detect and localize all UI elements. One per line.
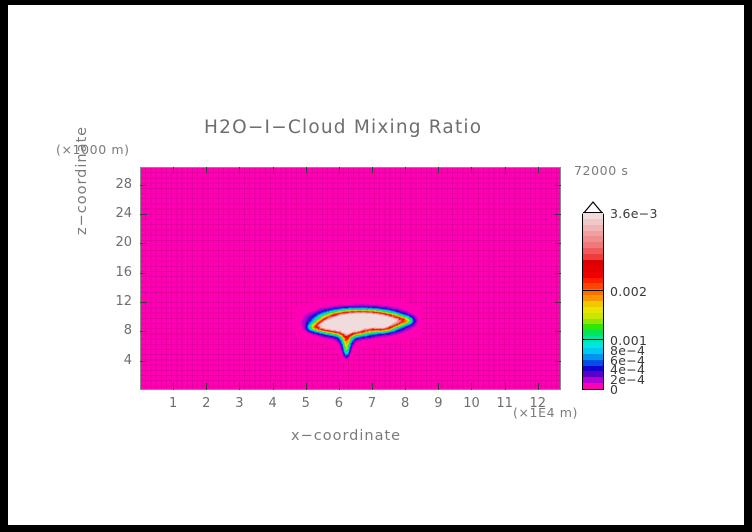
colorbar-rule	[583, 212, 603, 213]
y-tick-label: 8	[98, 323, 132, 338]
x-tick-label: 5	[291, 396, 321, 411]
x-tick	[173, 383, 174, 390]
colorbar-tick-label: 0	[610, 382, 618, 397]
x-tick-label: 1	[158, 396, 188, 411]
y-axis-title: z−coordinate	[74, 126, 90, 235]
x-tick-top	[538, 167, 539, 173]
x-tick-top	[438, 167, 439, 173]
y-axis-unit-label: (×1000 m)	[56, 142, 130, 157]
colorbar-segment	[583, 236, 603, 242]
page-title: H2O−I−Cloud Mixing Ratio	[204, 117, 482, 138]
colorbar-segment	[583, 330, 603, 336]
x-tick-label: 3	[224, 396, 254, 411]
x-tick-label: 7	[357, 396, 387, 411]
colorbar-segment	[583, 383, 603, 389]
colorbar-segment	[583, 212, 603, 218]
colorbar-segment	[583, 218, 603, 224]
colorbar-segment	[583, 377, 603, 383]
x-tick	[372, 383, 373, 390]
y-tick	[140, 185, 147, 186]
x-tick-label: 8	[390, 396, 420, 411]
y-tick-right	[555, 214, 561, 215]
x-tick-label: 12	[523, 396, 553, 411]
colorbar-segment	[583, 271, 603, 277]
x-tick-top	[239, 167, 240, 173]
y-tick	[140, 361, 147, 362]
heatmap-field	[140, 167, 561, 390]
colorbar-rule	[583, 290, 603, 291]
y-tick-label: 28	[98, 177, 132, 192]
image-outer-border: H2O−I−Cloud Mixing Ratio 72000 s (×1000 …	[0, 0, 752, 532]
y-tick-right	[555, 331, 561, 332]
y-tick	[140, 302, 147, 303]
x-tick-label: 10	[456, 396, 486, 411]
time-annotation: 72000 s	[574, 163, 628, 178]
colorbar-segment	[583, 306, 603, 312]
colorbar-segment	[583, 283, 603, 289]
y-tick-right	[555, 273, 561, 274]
colorbar-segment	[583, 253, 603, 259]
x-axis-title: x−coordinate	[291, 428, 401, 444]
colorbar-segment	[583, 295, 603, 301]
x-tick	[538, 383, 539, 390]
x-tick-top	[372, 167, 373, 173]
colorbar-segment	[583, 224, 603, 230]
x-tick	[438, 383, 439, 390]
x-tick	[306, 383, 307, 390]
x-tick-label: 11	[490, 396, 520, 411]
x-tick-top	[206, 167, 207, 173]
x-tick-label: 9	[423, 396, 453, 411]
x-tick	[273, 383, 274, 390]
y-tick	[140, 243, 147, 244]
colorbar-tick-label: 0.002	[610, 284, 647, 299]
x-tick	[206, 383, 207, 390]
colorbar-segment	[583, 359, 603, 365]
x-tick-top	[306, 167, 307, 173]
y-tick	[140, 273, 147, 274]
colorbar-segment	[583, 259, 603, 265]
x-tick-top	[405, 167, 406, 173]
x-tick-top	[173, 167, 174, 173]
colorbar-segment	[583, 277, 603, 283]
y-tick	[140, 331, 147, 332]
colorbar-segment	[583, 312, 603, 318]
colorbar-gradient	[582, 214, 604, 390]
colorbar-segment	[583, 365, 603, 371]
x-tick-top	[471, 167, 472, 173]
colorbar-segment	[583, 324, 603, 330]
colorbar-segment	[583, 300, 603, 306]
x-tick-label: 6	[324, 396, 354, 411]
x-tick	[405, 383, 406, 390]
y-tick-label: 24	[98, 206, 132, 221]
y-tick-right	[555, 185, 561, 186]
colorbar-segment	[583, 230, 603, 236]
colorbar-segment	[583, 371, 603, 377]
y-tick-label: 4	[98, 353, 132, 368]
y-tick-label: 20	[98, 235, 132, 250]
x-tick-label: 2	[191, 396, 221, 411]
y-tick-label: 12	[98, 294, 132, 309]
colorbar-segment	[583, 265, 603, 271]
colorbar-segment	[583, 318, 603, 324]
colorbar-segment	[583, 347, 603, 353]
cloud-cell-feature	[296, 295, 422, 359]
colorbar-rule	[583, 339, 603, 340]
colorbar-segment	[583, 353, 603, 359]
x-tick	[505, 383, 506, 390]
x-tick-top	[273, 167, 274, 173]
plot-canvas: H2O−I−Cloud Mixing Ratio 72000 s (×1000 …	[8, 5, 744, 525]
x-tick	[339, 383, 340, 390]
colorbar-segment	[583, 341, 603, 347]
x-tick-label: 4	[258, 396, 288, 411]
x-tick	[239, 383, 240, 390]
colorbar-segment	[583, 248, 603, 254]
x-tick	[471, 383, 472, 390]
y-tick	[140, 214, 147, 215]
y-tick-right	[555, 361, 561, 362]
x-tick-top	[339, 167, 340, 173]
y-tick-right	[555, 302, 561, 303]
y-tick-label: 16	[98, 265, 132, 280]
colorbar-segment	[583, 242, 603, 248]
y-tick-right	[555, 243, 561, 244]
x-tick-top	[505, 167, 506, 173]
colorbar-tick-label: 3.6e−3	[610, 206, 658, 221]
